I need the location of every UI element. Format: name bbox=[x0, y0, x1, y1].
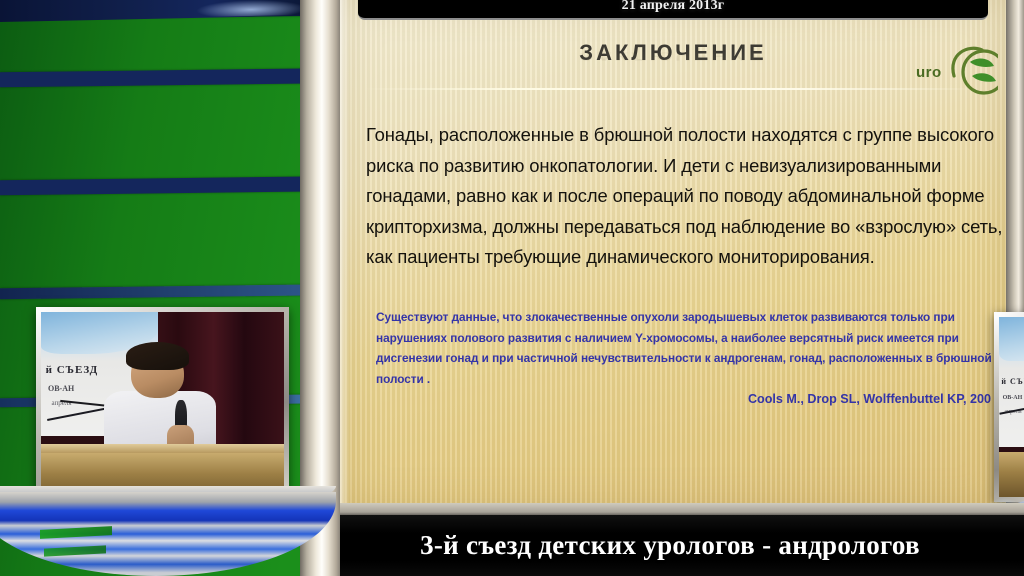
slide-note-paragraph: Существуют данные, что злокачественные о… bbox=[376, 307, 1006, 389]
podium-top bbox=[36, 444, 289, 453]
slide-left-edge bbox=[340, 0, 350, 509]
backdrop-line-2: ОВ-АН bbox=[48, 384, 74, 393]
backdrop-line-1: й СЪЕЗД bbox=[46, 364, 98, 376]
backdrop-sky-graphic-mirror bbox=[999, 317, 1024, 361]
slide-title-reflection: ЗАКЛЮЧЕНИЕ bbox=[340, 49, 1006, 63]
broadcast-frame: ЗАКЛЮЧЕНИЕ ЗАКЛЮЧЕНИЕ Гонады, расположен… bbox=[0, 0, 1024, 576]
slide-body-paragraph: Гонады, расположенные в брюшной полости … bbox=[366, 120, 1006, 273]
broadcast-date-bar: 21 апреля 2013г bbox=[358, 0, 988, 20]
event-backdrop-banner-mirror: й СЪЕЗД ОВ-АН апреля bbox=[999, 317, 1024, 447]
slide-note-text: Существуют данные, что злокачественные о… bbox=[376, 307, 1006, 389]
uro-logo: uro bbox=[914, 42, 998, 98]
podium-mirror bbox=[997, 452, 1024, 497]
backdrop-line-2-mirror: ОВ-АН bbox=[1003, 395, 1023, 401]
video-scene: й СЪЕЗД ОВ-АН апреля bbox=[41, 312, 284, 500]
broadcast-lower-third: 3-й съезд детских урологов - андрологов bbox=[340, 515, 1024, 576]
slide-title-group: ЗАКЛЮЧЕНИЕ ЗАКЛЮЧЕНИЕ bbox=[340, 40, 1006, 66]
presentation-slide: ЗАКЛЮЧЕНИЕ ЗАКЛЮЧЕНИЕ Гонады, расположен… bbox=[340, 0, 1006, 509]
uro-logo-text: uro bbox=[916, 64, 942, 81]
broadcast-event-title: 3-й съезд детских урологов - андрологов bbox=[340, 515, 1000, 576]
speaker-video-inset: й СЪЕЗД ОВ-АН апреля bbox=[36, 307, 289, 505]
slide-body-text: Гонады, расположенные в брюшной полости … bbox=[366, 120, 1006, 273]
speaker-hair bbox=[126, 342, 189, 370]
speaker-video-inset-mirror: й СЪЕЗД ОВ-АН апреля bbox=[994, 312, 1024, 502]
broadcast-date: 21 апреля 2013г bbox=[622, 0, 725, 14]
backdrop-line-1-mirror: й СЪЕЗД bbox=[1001, 377, 1024, 386]
slide-citation: Cools M., Drop SL, Wolffenbuttel KP, 200 bbox=[376, 392, 991, 406]
studio-top-panel-glare bbox=[196, 0, 306, 17]
video-scene-mirror: й СЪЕЗД ОВ-АН апреля bbox=[999, 317, 1024, 497]
slide-title-divider bbox=[364, 88, 982, 90]
